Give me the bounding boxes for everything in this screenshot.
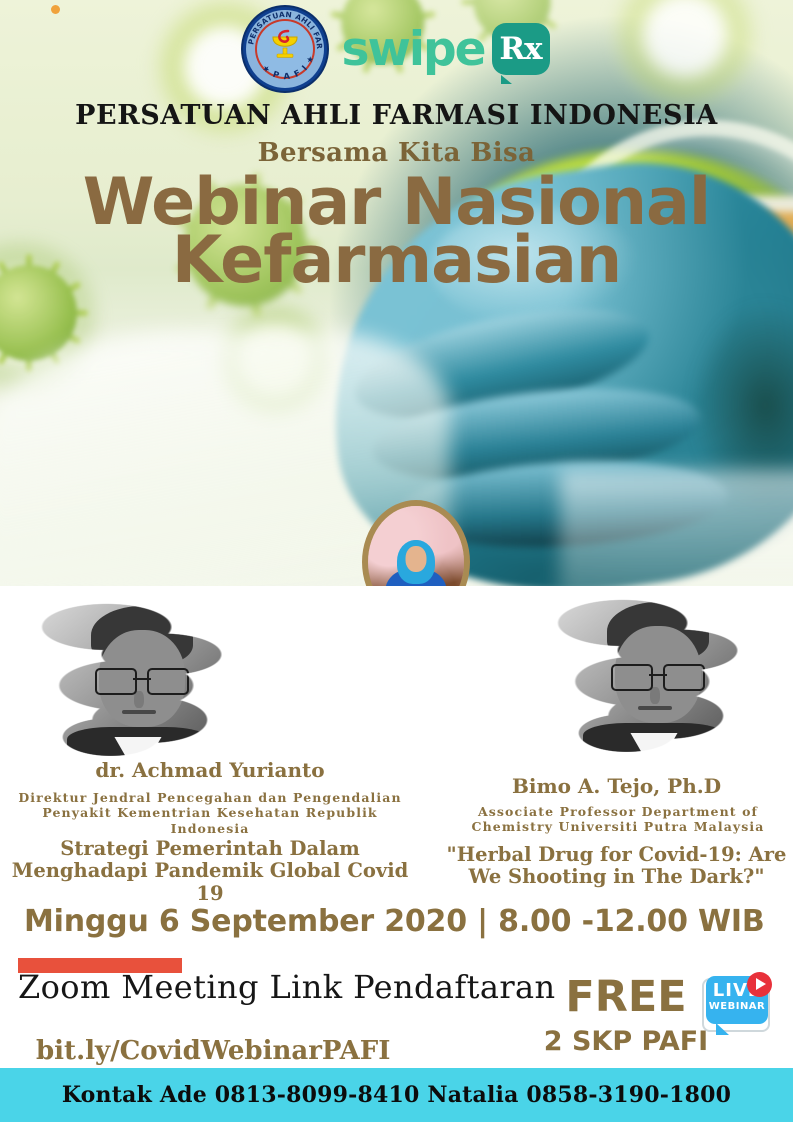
live-webinar-icon: LIVE WEBINAR xyxy=(698,974,772,1044)
logo-row: PERSATUAN AHLI FARMASI INDONESIA ★ P A F… xyxy=(0,6,793,92)
speaker-portrait xyxy=(556,592,752,764)
credits-badge: 2 SKP PAFI xyxy=(540,1026,712,1057)
speaker-topic-achmad-yurianto: Strategi Pemerintah Dalam Menghadapi Pan… xyxy=(0,838,420,905)
portrait-eyeglasses xyxy=(95,668,189,690)
organization-name: PERSATUAN AHLI FARMASI INDONESIA xyxy=(0,100,793,131)
speaker-name-bimo-a-tejo: Bimo A. Tejo, Ph.D xyxy=(440,774,793,798)
speaker-photo-brush-mask xyxy=(556,592,752,764)
registration-link[interactable]: bit.ly/CovidWebinarPAFI xyxy=(36,1036,390,1066)
pafi-logo: PERSATUAN AHLI FARMASI INDONESIA ★ P A F… xyxy=(243,7,327,91)
contact-line: Kontak Ade 0813-8099-8410 Natalia 0858-3… xyxy=(62,1082,731,1108)
chairperson-photo-face xyxy=(406,546,427,572)
swipe-dot-decor xyxy=(51,5,60,14)
portrait-mouth xyxy=(638,706,671,710)
speaker-photo-brush-mask xyxy=(40,596,236,768)
blurred-foreground-decor xyxy=(560,470,793,586)
event-platform-line: Zoom Meeting Link Pendaftaran xyxy=(18,968,556,1006)
speaker-affiliation-bimo-a-tejo: Associate Professor Department of Chemis… xyxy=(448,804,788,835)
speaker-photo-bimo-a-tejo xyxy=(556,592,752,764)
tagline: Bersama Kita Bisa xyxy=(0,138,793,168)
speaker-photo-achmad-yurianto xyxy=(40,596,236,768)
live-webinar-label-line2: WEBINAR xyxy=(706,1001,768,1012)
bowl-of-hygieia-icon xyxy=(268,29,302,59)
swiperx-logo: swipe Rx xyxy=(341,23,549,75)
speaker-affiliation-achmad-yurianto: Direktur Jendral Pencegahan dan Pengenda… xyxy=(10,790,410,836)
swipe-wordmark: swipe xyxy=(341,26,484,73)
rx-speech-bubble-icon: Rx xyxy=(492,23,550,75)
speaker-name-achmad-yurianto: dr. Achmad Yurianto xyxy=(0,758,420,782)
event-datetime: Minggu 6 September 2020 | 8.00 -12.00 WI… xyxy=(24,904,765,939)
portrait-mouth xyxy=(122,710,155,714)
play-button-icon xyxy=(747,972,772,997)
speaker-topic-bimo-a-tejo: "Herbal Drug for Covid-19: Are We Shooti… xyxy=(440,844,793,889)
details-panel: dr. Achmad Yurianto Direktur Jendral Pen… xyxy=(0,586,793,1122)
price-badge: FREE xyxy=(556,972,696,1022)
rx-label: Rx xyxy=(492,23,550,75)
webinar-poster: PERSATUAN AHLI FARMASI INDONESIA ★ P A F… xyxy=(0,0,793,1122)
poster-title-line2: Kefarmasian xyxy=(0,228,793,293)
contact-bar: Kontak Ade 0813-8099-8410 Natalia 0858-3… xyxy=(0,1068,793,1122)
portrait-eyeglasses xyxy=(611,664,705,686)
speaker-portrait xyxy=(40,596,236,768)
